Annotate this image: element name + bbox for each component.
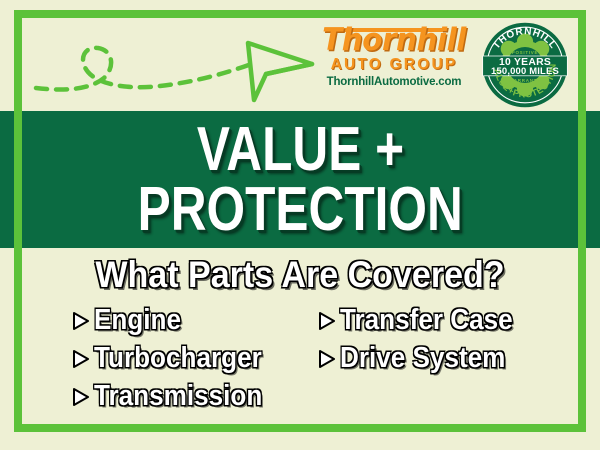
badge-line2-text: 150,000 MILES (491, 66, 559, 77)
list-item: Turbocharger (72, 339, 281, 377)
list-item-label: Turbocharger (94, 344, 262, 373)
covered-parts-heading: What Parts Are Covered? (44, 256, 556, 293)
triangle-bullet-icon (318, 349, 335, 369)
banner-header: Thornhill AUTO GROUP ThornhillAutomotive… (22, 18, 578, 111)
list-item: Transmission (72, 377, 281, 415)
list-item: Drive System (318, 339, 532, 377)
triangle-bullet-icon (72, 349, 89, 369)
triangle-bullet-icon (318, 311, 335, 331)
title-band: VALUE + PROTECTION (0, 111, 600, 248)
logo-brand-text: Thornhill (322, 26, 466, 55)
headline-line-1: VALUE + (196, 121, 403, 178)
badge-small-top-text: POSITIVE (512, 50, 539, 55)
triangle-bullet-icon (72, 311, 89, 331)
badge-small-bottom-text: WARRANTY (509, 78, 541, 83)
covered-parts-column-right: Transfer Case Drive System (318, 301, 532, 377)
triangle-bullet-icon (72, 387, 89, 407)
covered-parts-column-left: Engine Turbocharger Transmission (72, 301, 281, 415)
list-item: Engine (72, 301, 281, 339)
headline-line-2: PROTECTION (137, 181, 462, 238)
list-item-label: Engine (94, 306, 181, 335)
list-item-label: Transmission (94, 382, 262, 411)
list-item-label: Drive System (340, 344, 505, 373)
promo-banner: Thornhill AUTO GROUP ThornhillAutomotive… (0, 0, 600, 450)
list-item-label: Transfer Case (340, 306, 513, 335)
thornhill-logo[interactable]: Thornhill AUTO GROUP ThornhillAutomotive… (318, 26, 470, 88)
warranty-seal-badge-icon: THORNHILL VALUE+PROTECTION POSITIVE 10 Y… (480, 20, 570, 110)
covered-parts-section: What Parts Are Covered? Engine Turbochar… (22, 252, 578, 424)
logo-website-url: ThornhillAutomotive.com (318, 76, 470, 88)
logo-subtitle-text: AUTO GROUP (318, 56, 470, 74)
list-item: Transfer Case (318, 301, 532, 339)
dashed-looping-arrow-icon (30, 26, 320, 106)
covered-parts-lists: Engine Turbocharger Transmission (22, 301, 578, 419)
